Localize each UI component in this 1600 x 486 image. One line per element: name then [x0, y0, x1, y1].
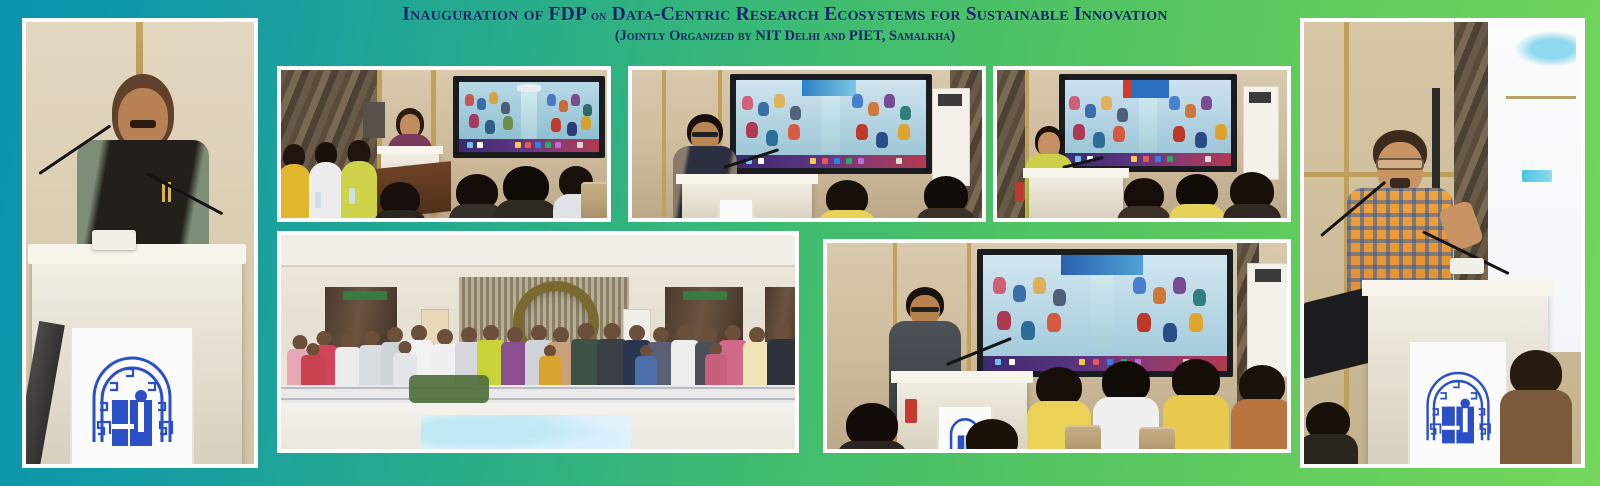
photo-card-female-speaker-yellow-saree: [993, 66, 1291, 222]
photo-image-group-photograph: [281, 235, 795, 449]
foreground-attendee: [1500, 350, 1572, 464]
podium-top-ledge: [1023, 168, 1129, 178]
projection-graphic: [1516, 32, 1576, 66]
title-part-1: Inauguration of FDP: [402, 4, 586, 25]
audience-attendee-4: [1231, 365, 1287, 449]
screen-taskbar: [459, 139, 599, 152]
nit-delhi-emblem-icon: [82, 338, 182, 458]
control-panel-display: [1249, 92, 1271, 103]
photo-card-male-speaker-checked-shirt: [628, 66, 986, 222]
speaker-moustache: [130, 120, 156, 128]
photo-card-group-photograph: [277, 231, 799, 453]
photo-card-speaker-at-podium-left: [22, 18, 258, 468]
potted-plant: [409, 375, 489, 403]
eyeglasses: [1376, 158, 1424, 170]
screen-people: [983, 255, 1227, 358]
title-on-word: on: [591, 8, 606, 24]
control-panel-display: [938, 94, 962, 106]
foreground-attendee-3: [495, 166, 557, 218]
podium-top-ledge: [377, 146, 443, 154]
foreground-attendee-3: [1223, 172, 1281, 218]
foreground-attendee-1: [373, 182, 427, 218]
projection-rule: [1506, 96, 1576, 99]
exit-sign-left: [343, 291, 387, 300]
seated-attendee-3: [341, 140, 377, 218]
photo-card-female-speaker-with-seated-audience: [277, 66, 611, 222]
eyeglasses: [692, 132, 718, 137]
wall-trim-1: [662, 70, 666, 218]
podium-top-ledge: [891, 371, 1033, 383]
photo-card-male-speaker-orange-checked-shirt: [1300, 18, 1585, 468]
display-screen: [730, 74, 932, 174]
podium-logo-plate: [718, 198, 754, 218]
foreground-attendee-1: [1117, 178, 1171, 218]
display-screen: [1059, 74, 1237, 172]
screen-people: [1065, 80, 1231, 153]
photo-card-male-speaker-grey-polo: [823, 239, 1291, 453]
screen-people: [736, 80, 926, 155]
photo-image-speaker-at-podium-left: [26, 22, 254, 464]
display-screen: [977, 249, 1233, 377]
nit-delhi-emblem-icon: [1418, 350, 1498, 460]
screen-content: [983, 255, 1227, 358]
wall-speaker-box: [363, 102, 385, 138]
chair-back: [581, 182, 607, 218]
foreground-attendee-2: [916, 176, 976, 218]
photo-image-male-speaker-orange-checked-shirt: [1304, 22, 1581, 464]
exit-sign-right: [683, 291, 727, 300]
photo-image-male-speaker-grey-polo: [827, 243, 1287, 449]
audience-attendee-foreground-2: [957, 419, 1027, 449]
eyeglasses: [911, 307, 939, 312]
photo-image-female-speaker-yellow-saree: [997, 70, 1287, 218]
ceiling: [281, 235, 795, 265]
chair-back-1: [1065, 425, 1101, 449]
screen-content: [736, 80, 926, 155]
water-bottle-2: [349, 188, 355, 204]
poster-title-block: Inauguration of FDP on Data-Centric Rese…: [270, 4, 1300, 44]
foreground-attendee-2: [1169, 174, 1225, 218]
screen-taskbar: [736, 155, 926, 168]
screen-content: [1065, 80, 1231, 153]
water-bottle-1: [315, 192, 321, 208]
title-part-2: Data-Centric Research Ecosystems for Sus…: [612, 4, 1168, 25]
ceiling-edge: [281, 265, 795, 267]
page-title: Inauguration of FDP on Data-Centric Rese…: [270, 4, 1300, 26]
control-panel-display: [1255, 269, 1281, 282]
wall-artwork: [421, 415, 631, 449]
projection-text-block: [1522, 170, 1552, 182]
podium-top-ledge: [28, 244, 246, 264]
podium-top-ledge: [676, 174, 818, 184]
stone-cladding: [1454, 22, 1488, 322]
photo-image-male-speaker-checked-shirt: [632, 70, 982, 218]
audience-attendee-foreground: [837, 403, 907, 449]
page-subtitle: (Jointly Organized by NIT Delhi and PIET…: [270, 28, 1300, 44]
speaker-face: [118, 88, 168, 148]
screen-content: [459, 82, 599, 139]
foreground-attendee-1: [818, 180, 876, 218]
beard: [1390, 178, 1410, 188]
podium-logo-plate: [70, 326, 194, 464]
foreground-attendee-2: [1304, 402, 1358, 464]
podium-logo-plate: [1408, 340, 1508, 464]
photo-image-female-speaker-with-seated-audience: [281, 70, 607, 218]
screen-people: [459, 82, 599, 139]
balcony-railing: [281, 385, 795, 403]
podium-light-box: [1450, 258, 1484, 274]
chair-back-2: [1139, 427, 1175, 449]
display-screen: [453, 76, 605, 158]
water-bottle: [1015, 182, 1023, 202]
podium: [1029, 174, 1123, 218]
seated-attendee-1: [281, 144, 311, 218]
podium-top-ledge: [1362, 280, 1554, 296]
podium-light-box: [92, 230, 136, 250]
